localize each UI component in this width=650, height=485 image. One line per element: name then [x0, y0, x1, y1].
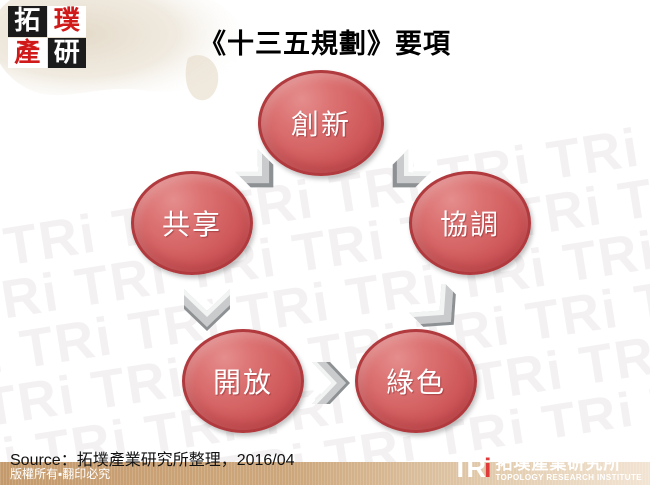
- tri-wordmark-tr: TR: [452, 453, 484, 483]
- tri-institute-logo: TRi 拓墣產業研究所 TOPOLOGY RESEARCH INSTITUTE: [452, 455, 642, 482]
- tri-wordmark: TRi: [452, 455, 490, 482]
- node-sharing-label: 共享: [162, 203, 222, 243]
- node-coordination-label: 協調: [440, 203, 500, 243]
- arrow-green-to-coordination: [408, 284, 474, 340]
- company-logo: 拓 璞 產 研: [8, 6, 86, 68]
- logo-char-4: 研: [48, 38, 87, 69]
- arrow-openness-to-green: [300, 353, 360, 413]
- tri-name-cn: 拓墣產業研究所: [495, 455, 642, 472]
- source-note: Source：拓墣產業研究所整理，2016/04: [10, 446, 295, 470]
- tri-name-en: TOPOLOGY RESEARCH INSTITUTE: [495, 474, 642, 482]
- logo-char-2: 璞: [48, 6, 87, 37]
- logo-char-3: 產: [8, 38, 47, 69]
- node-green[interactable]: 綠色: [355, 329, 477, 433]
- node-openness-label: 開放: [213, 361, 273, 401]
- arrow-coordination-to-innovation: [370, 146, 438, 206]
- logo-char-1: 拓: [8, 6, 47, 37]
- node-openness[interactable]: 開放: [182, 329, 304, 433]
- tri-wordmark-i: i: [484, 453, 490, 483]
- node-green-label: 綠色: [386, 361, 446, 401]
- arrow-sharing-to-openness: [174, 283, 240, 335]
- page-title: 《十三五規劃》要項: [0, 22, 650, 61]
- arrow-sharing-to-innovation: [228, 146, 296, 206]
- tri-text-block: 拓墣產業研究所 TOPOLOGY RESEARCH INSTITUTE: [495, 455, 642, 482]
- slide-canvas: TRi TRi TRi TRi TRi TRi TRi TRi TRi TRi …: [0, 0, 650, 485]
- node-innovation-label: 創新: [291, 103, 351, 143]
